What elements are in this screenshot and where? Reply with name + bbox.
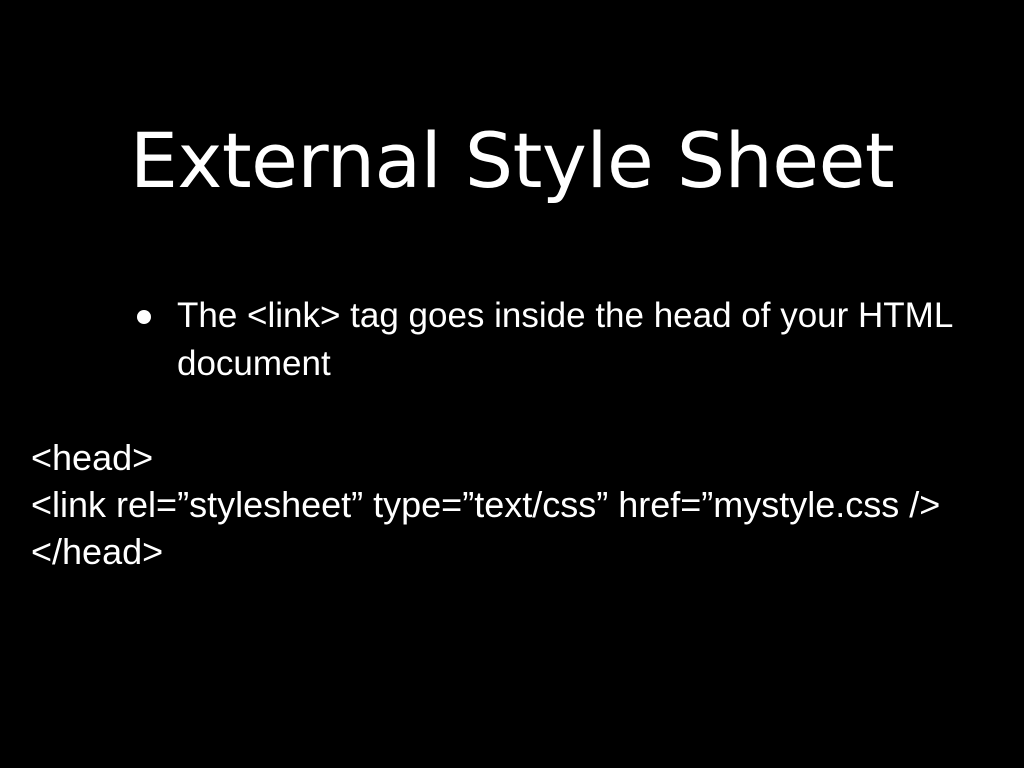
list-item: The <link> tag goes inside the head of y…: [133, 292, 963, 388]
code-line-close-head: </head>: [31, 528, 1011, 575]
code-line-open-head: <head>: [31, 434, 1011, 481]
bullet-list: The <link> tag goes inside the head of y…: [133, 292, 963, 388]
bullet-item-label: The <link> tag goes inside the head of y…: [177, 292, 963, 388]
code-line-link-tag: <link rel=”stylesheet” type=”text/css” h…: [31, 481, 1011, 528]
code-block: <head><link rel=”stylesheet” type=”text/…: [31, 434, 1011, 575]
bullet-dot-icon: [137, 310, 151, 324]
page-title: External Style Sheet: [0, 123, 1024, 199]
slide: External Style Sheet The <link> tag goes…: [0, 0, 1024, 768]
